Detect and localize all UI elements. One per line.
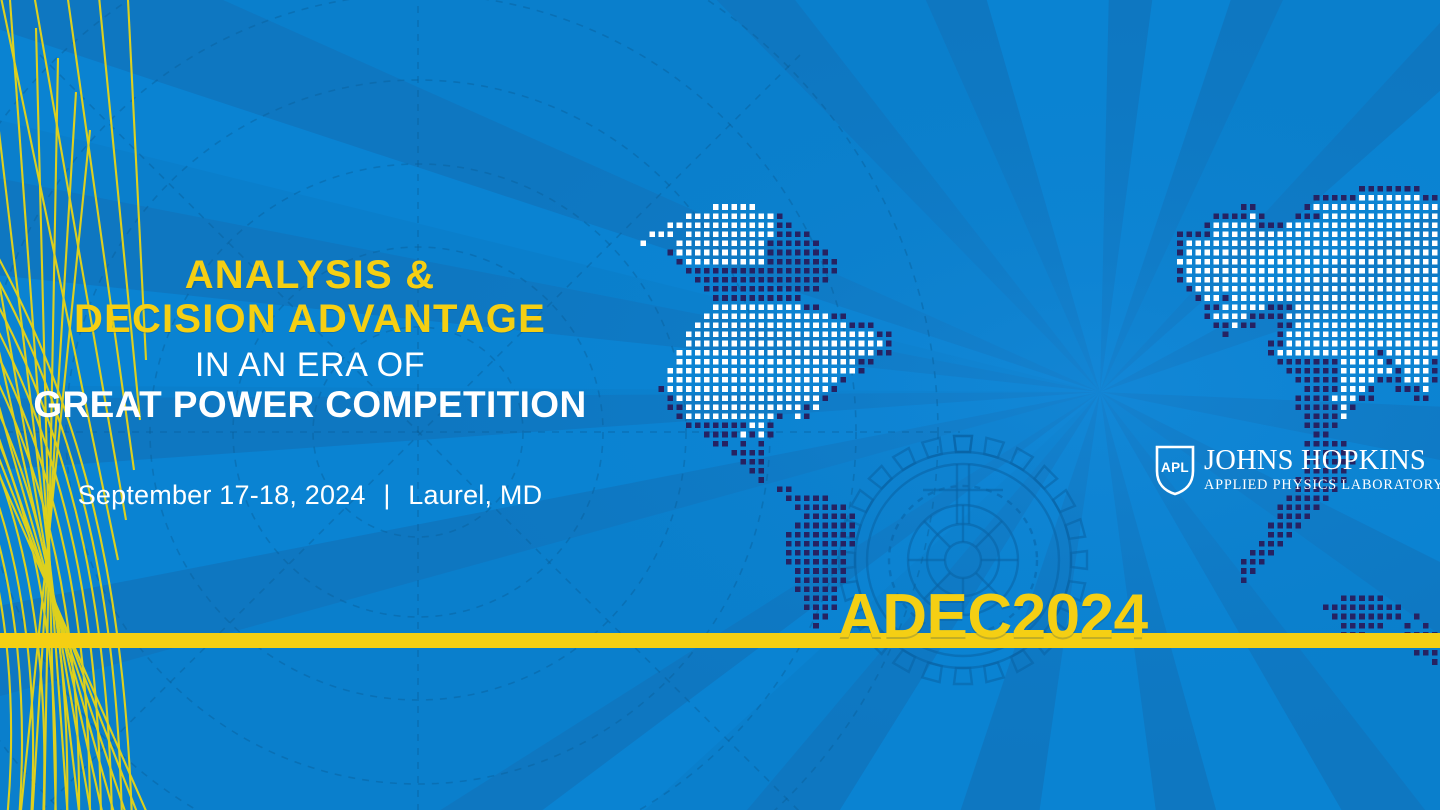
title-line-1: ANALYSIS & [0,255,620,295]
yellow-horizontal-bar [0,633,1440,648]
event-location: Laurel, MD [408,480,542,510]
title-line-4: GREAT POWER COMPETITION [0,386,620,423]
logo-university-name: JOHNS HOPKINS [1204,446,1440,475]
title-line-3: IN AN ERA OF [0,348,620,382]
event-details: September 17-18, 2024 | Laurel, MD [0,480,620,511]
jhuapl-logo: APL JOHNS HOPKINS APPLIED PHYSICS LABORA… [1155,441,1425,499]
event-dates: September 17-18, 2024 [78,480,366,510]
title-line-2: DECISION ADVANTAGE [0,299,620,339]
adec2024-event-banner: ANALYSIS & DECISION ADVANTAGE IN AN ERA … [0,0,1440,810]
adec2024-wordmark: ADEC2024 [838,586,1148,648]
apl-shield-icon: APL [1155,444,1195,496]
event-title-block: ANALYSIS & DECISION ADVANTAGE IN AN ERA … [0,255,620,511]
detail-separator: | [373,480,400,511]
svg-text:APL: APL [1161,460,1189,475]
logo-division-name: APPLIED PHYSICS LABORATORY [1204,477,1440,494]
